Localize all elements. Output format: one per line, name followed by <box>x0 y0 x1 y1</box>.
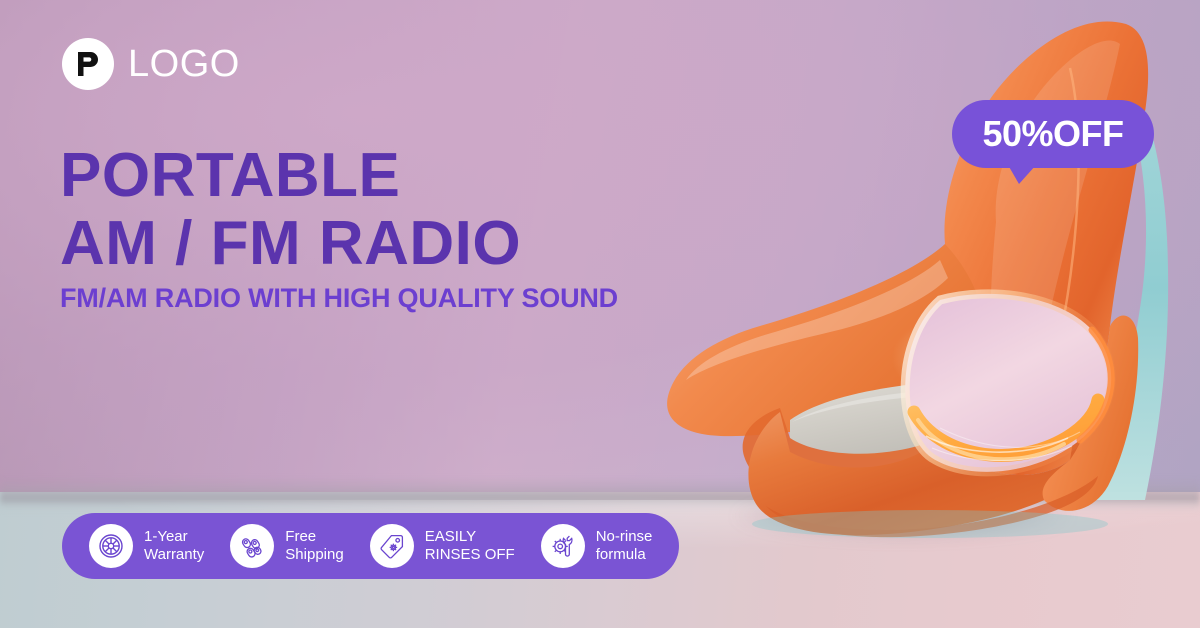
feature-bar: 1-Year Warranty Free Ship <box>62 513 679 579</box>
wheel-icon <box>89 524 133 568</box>
feature-item-rinses-off: EASILY RINSES OFF <box>357 524 528 568</box>
discount-badge-text: 50%OFF <box>982 116 1123 152</box>
feature-item-shipping: Free Shipping <box>217 524 356 568</box>
headline-subtitle: FM/AM RADIO WITH HIGH QUALITY SOUND <box>60 283 680 314</box>
feature-label-no-rinse: No-rinse formula <box>596 528 653 565</box>
headline-line-1: PORTABLE <box>60 142 680 210</box>
logs-icon <box>230 524 274 568</box>
discount-badge: 50%OFF <box>952 100 1154 168</box>
discount-badge-tail <box>1008 165 1036 184</box>
feature-item-warranty: 1-Year Warranty <box>76 524 217 568</box>
feature-label-rinses-off: EASILY RINSES OFF <box>425 528 515 565</box>
product-image-chair <box>640 8 1180 528</box>
feature-label-warranty: 1-Year Warranty <box>144 528 204 565</box>
headline-block: PORTABLE AM / FM RADIO FM/AM RADIO WITH … <box>60 142 680 314</box>
gear-wrench-icon <box>541 524 585 568</box>
discount-badge-body: 50%OFF <box>952 100 1154 168</box>
feature-label-shipping: Free Shipping <box>285 528 343 565</box>
p-monogram-icon <box>62 38 114 90</box>
headline-line-2: AM / FM RADIO <box>60 210 680 278</box>
feature-item-no-rinse: No-rinse formula <box>528 524 666 568</box>
brand-logo[interactable]: LOGO <box>62 38 240 90</box>
tag-gear-icon <box>370 524 414 568</box>
logo-text: LOGO <box>128 45 240 83</box>
promo-banner: LOGO PORTABLE AM / FM RADIO FM/AM RADIO … <box>0 0 1200 628</box>
